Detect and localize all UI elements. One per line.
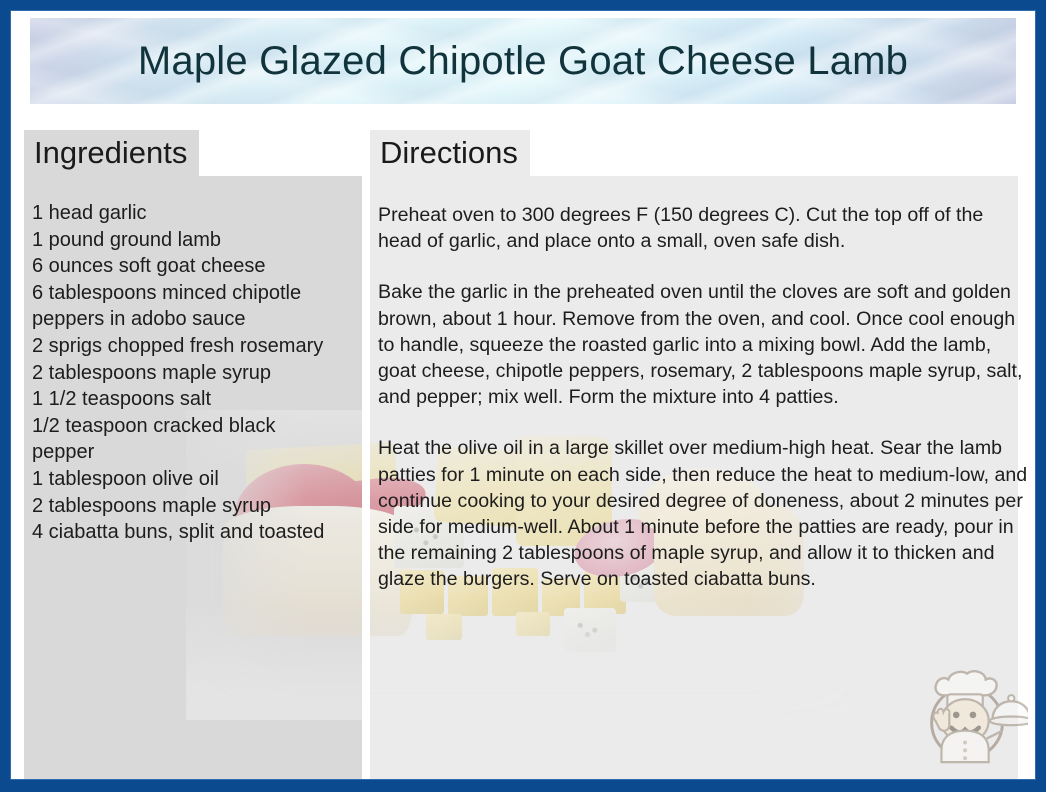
list-item: 1 pound ground lamb — [32, 227, 364, 254]
list-item: pepper — [32, 439, 364, 466]
directions-paragraph: Heat the olive oil in a large skillet ov… — [378, 435, 1030, 592]
list-item: 1 head garlic — [32, 200, 364, 227]
list-item: 6 tablespoons minced chipotle — [32, 280, 364, 307]
list-item: 2 tablespoons maple syrup — [32, 360, 364, 387]
directions-body: Preheat oven to 300 degrees F (150 degre… — [378, 202, 1030, 593]
recipe-title: Maple Glazed Chipotle Goat Cheese Lamb — [138, 39, 908, 84]
card-inner: Maple Glazed Chipotle Goat Cheese Lamb — [10, 10, 1036, 780]
list-item: 4 ciabatta buns, split and toasted — [32, 519, 364, 546]
tab-ingredients[interactable]: Ingredients — [24, 130, 199, 176]
chef-mascot-logo — [910, 652, 1028, 770]
directions-paragraph: Bake the garlic in the preheated oven un… — [378, 279, 1030, 410]
list-item: 1/2 teaspoon cracked black — [32, 413, 364, 440]
list-item: 1 1/2 teaspoons salt — [32, 386, 364, 413]
list-item: 2 sprigs chopped fresh rosemary — [32, 333, 364, 360]
directions-paragraph: Preheat oven to 300 degrees F (150 degre… — [378, 202, 1030, 254]
list-item: 6 ounces soft goat cheese — [32, 253, 364, 280]
tab-directions[interactable]: Directions — [370, 130, 530, 176]
ingredients-list: 1 head garlic 1 pound ground lamb 6 ounc… — [32, 200, 364, 546]
title-banner: Maple Glazed Chipotle Goat Cheese Lamb — [30, 18, 1016, 104]
recipe-card: Maple Glazed Chipotle Goat Cheese Lamb — [0, 0, 1046, 792]
list-item: 2 tablespoons maple syrup — [32, 493, 364, 520]
list-item: peppers in adobo sauce — [32, 306, 364, 333]
list-item: 1 tablespoon olive oil — [32, 466, 364, 493]
